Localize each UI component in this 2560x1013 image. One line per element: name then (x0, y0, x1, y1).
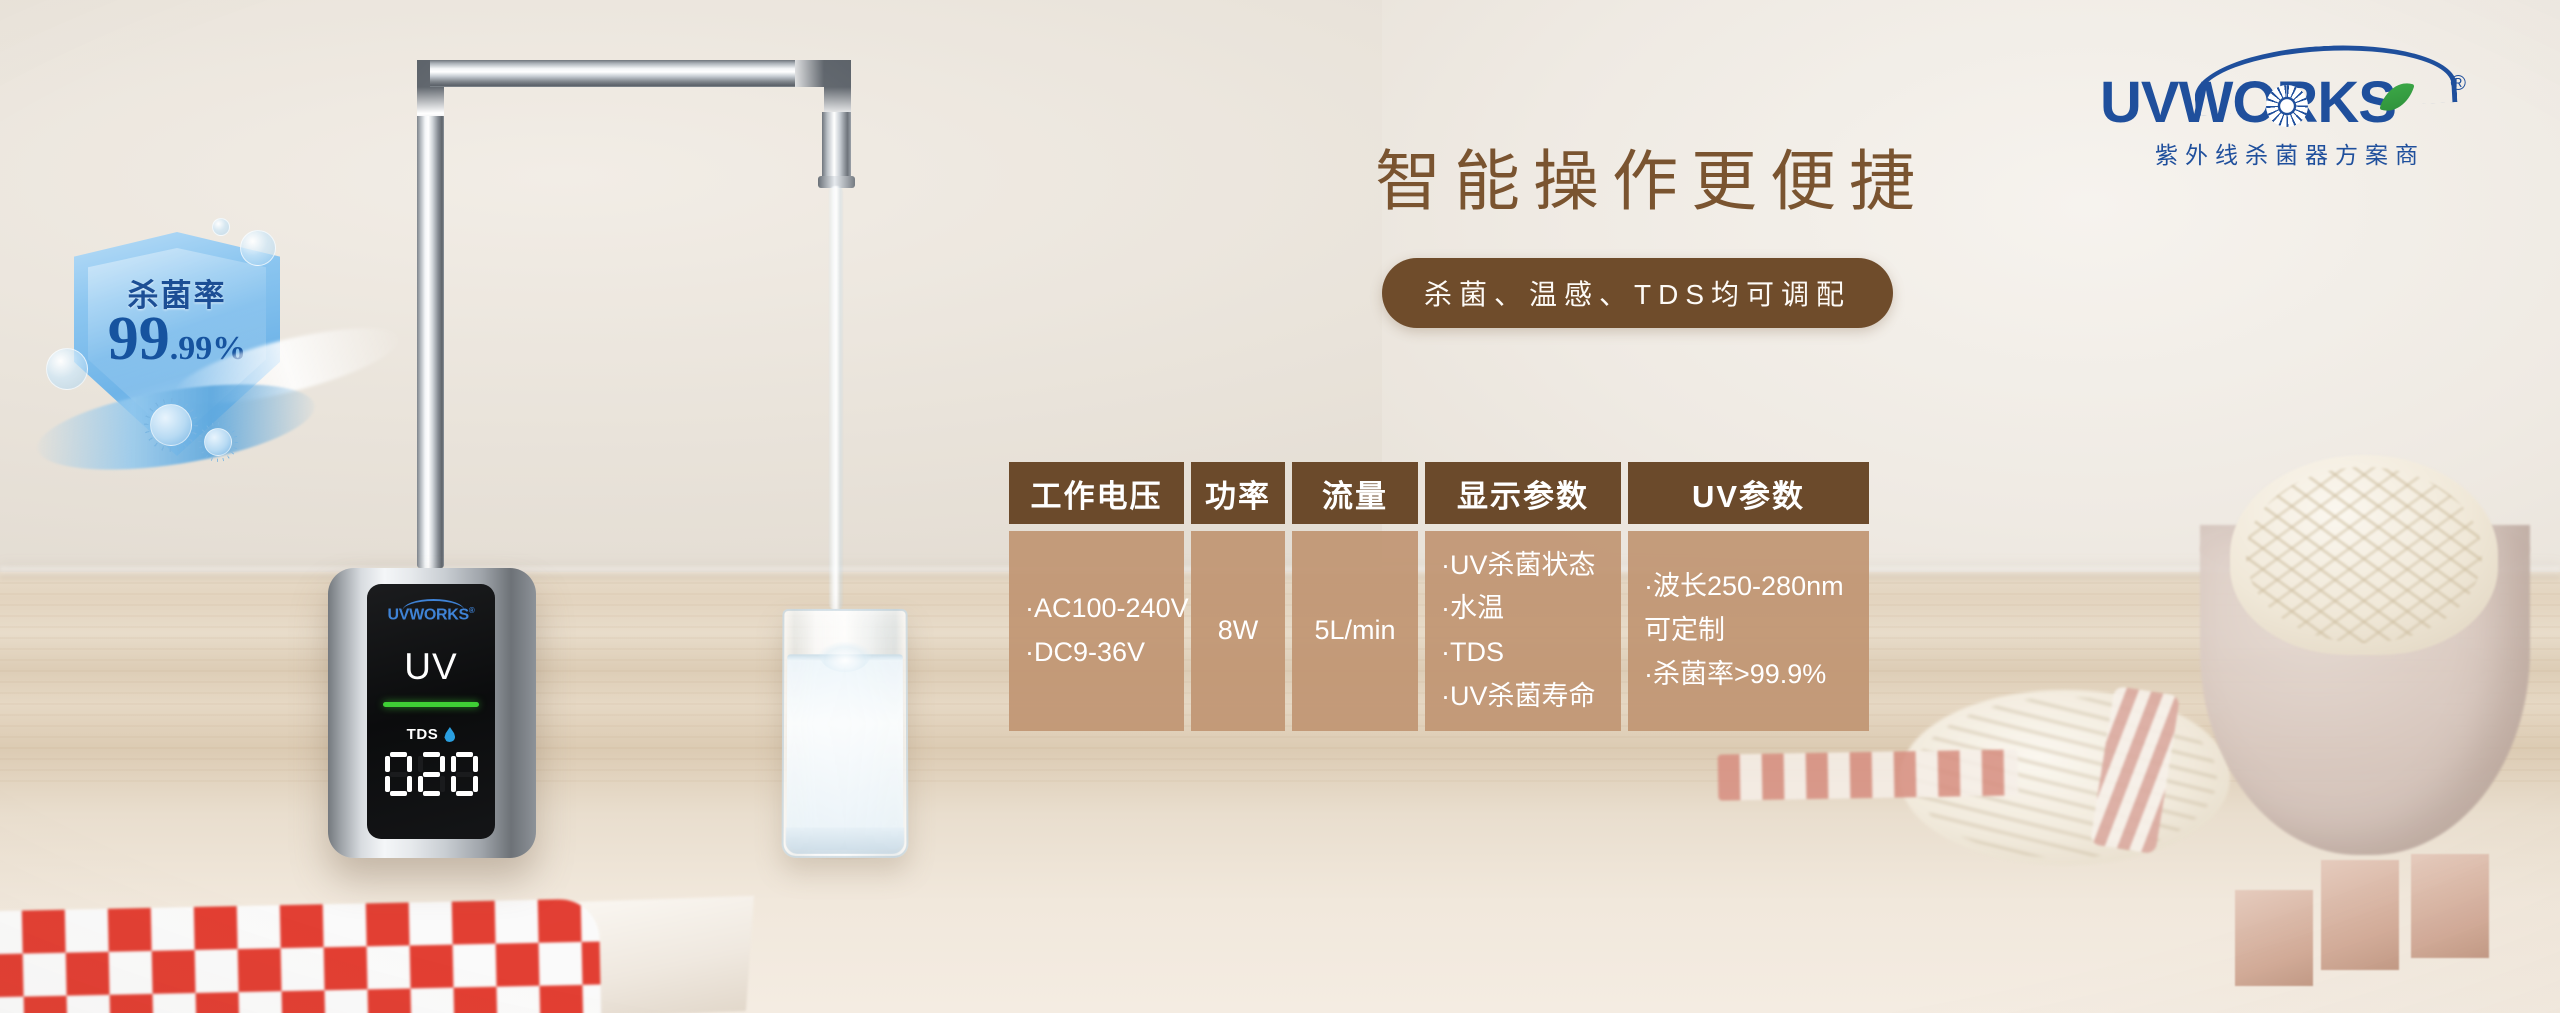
spec-column-cell: ·波长250-280nm 可定制 ·杀菌率>99.9% (1628, 531, 1869, 731)
spec-line: ·DC9-36V (1025, 631, 1168, 675)
faucet-spout (822, 112, 851, 182)
spec-column-header: 工作电压 (1009, 462, 1184, 524)
bubble-icon (240, 230, 276, 266)
spec-column: UV参数 ·波长250-280nm 可定制 ·杀菌率>99.9% (1628, 462, 1869, 731)
brand-logo: UVWORKS ® 紫外线杀菌器方案商 (2100, 38, 2480, 168)
seven-segment-digit (451, 752, 478, 796)
bubble-icon (46, 348, 88, 390)
spec-column-cell: ·AC100-240V ·DC9-36V (1009, 531, 1184, 731)
spec-column: 显示参数 ·UV杀菌状态 ·水温 ·TDS ·UV杀菌寿命 (1425, 462, 1621, 731)
device-tds-row: TDS (367, 726, 495, 743)
spec-line: ·UV杀菌状态 (1441, 544, 1605, 588)
yarn-ball-prop (2230, 455, 2498, 655)
seven-segment-digit (385, 752, 412, 796)
spec-column: 工作电压 ·AC100-240V ·DC9-36V (1009, 462, 1184, 731)
glass-water-fill (787, 656, 904, 849)
spec-line: ·杀菌率>99.9% (1644, 653, 1853, 697)
water-glass (782, 609, 909, 858)
device-mode-label: UV (367, 646, 495, 688)
spec-column-header: UV参数 (1628, 462, 1869, 524)
germ-icon (204, 428, 232, 456)
device-tds-value (367, 752, 495, 796)
water-stream (829, 186, 843, 610)
checkered-cloth-prop (0, 899, 601, 1013)
spec-column: 功率 8W (1191, 462, 1285, 731)
logo-tagline: 紫外线杀菌器方案商 (2100, 136, 2480, 170)
product-banner: UVWORKS® UV TDS (0, 0, 2560, 1013)
spec-line: ·波长250-280nm (1644, 565, 1853, 609)
spec-column-header: 流量 (1292, 462, 1418, 524)
badge-value-major: 99 (108, 305, 170, 373)
spec-column-header: 显示参数 (1425, 462, 1621, 524)
bubble-icon (212, 218, 230, 236)
spec-line: ·AC100-240V (1025, 587, 1168, 631)
water-splash (818, 631, 872, 673)
faucet-horizontal-pipe (430, 60, 830, 87)
spec-line: ·UV杀菌寿命 (1441, 675, 1605, 719)
spec-line: 8W (1207, 609, 1269, 653)
water-drop-icon (444, 727, 455, 742)
device-tds-label: TDS (407, 726, 439, 743)
spec-line: 可定制 (1644, 609, 1853, 653)
glass-base (786, 828, 905, 854)
spec-column-header: 功率 (1191, 462, 1285, 524)
faucet-vertical-pipe (417, 88, 444, 568)
device-display-screen: UVWORKS® UV TDS (367, 584, 495, 839)
page-title: 智能操作更便捷 (1375, 128, 1928, 224)
specifications-table: 工作电压 ·AC100-240V ·DC9-36V 功率 8W 流量 5L/mi… (1009, 462, 1869, 731)
device-status-bar (383, 702, 479, 707)
spec-column-cell: 5L/min (1292, 531, 1418, 731)
spec-column-cell: ·UV杀菌状态 ·水温 ·TDS ·UV杀菌寿命 (1425, 531, 1621, 731)
spec-line: ·水温 (1441, 587, 1605, 631)
seven-segment-digit (418, 752, 445, 796)
device-screen-logo: UVWORKS® (367, 606, 495, 624)
subtitle-pill-label: 杀菌、温感、TDS均可调配 (1424, 273, 1851, 313)
wooden-blocks-prop (2235, 872, 2535, 992)
spec-line: 5L/min (1308, 609, 1402, 653)
logo-arc-icon (402, 599, 464, 613)
germ-icon (150, 404, 192, 446)
subtitle-pill: 杀菌、温感、TDS均可调配 (1382, 258, 1893, 328)
device-logo-registered: ® (469, 606, 475, 615)
registered-trademark-icon: ® (2451, 72, 2466, 96)
uv-sunburst-icon (2266, 85, 2308, 127)
spec-column: 流量 5L/min (1292, 462, 1418, 731)
sterilization-rate-badge: 杀菌率 99.99% (52, 222, 302, 472)
spec-column-cell: 8W (1191, 531, 1285, 731)
pink-mat-prop (1718, 749, 2019, 800)
spec-line: ·TDS (1441, 631, 1605, 675)
